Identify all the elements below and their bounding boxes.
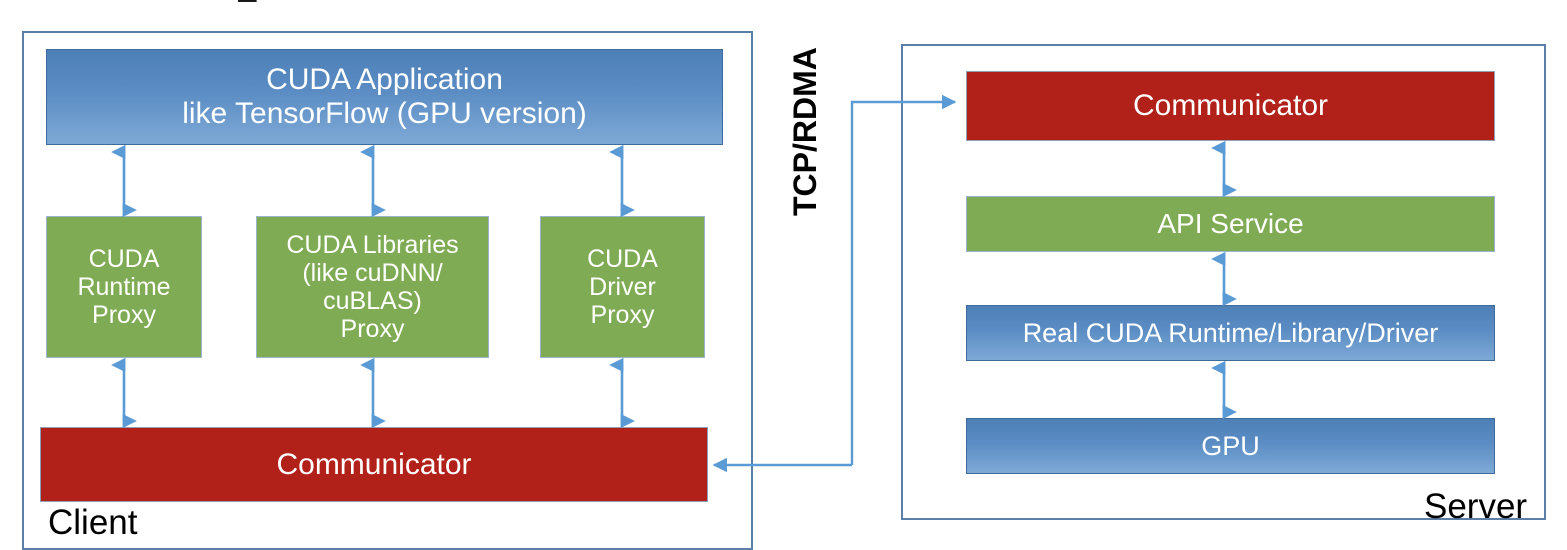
tcp-rdma-link-label: TCP/RDMA xyxy=(787,16,824,216)
diagram-canvas: I CUDA Application like TensorFlow (GPU … xyxy=(0,0,1567,550)
box-cuda-runtime-proxy[interactable]: CUDA Runtime Proxy xyxy=(46,216,202,358)
box-cuda-libraries-proxy[interactable]: CUDA Libraries (like cuDNN/ cuBLAS) Prox… xyxy=(256,216,489,358)
box-gpu[interactable]: GPU xyxy=(966,418,1495,474)
box-real-cuda-runtime-library-driver[interactable]: Real CUDA Runtime/Library/Driver xyxy=(966,305,1495,361)
box-cuda-driver-proxy[interactable]: CUDA Driver Proxy xyxy=(540,216,705,358)
clipped-title-text: I xyxy=(236,0,259,12)
server-panel-label: Server xyxy=(1424,489,1527,524)
box-cuda-application[interactable]: CUDA Application like TensorFlow (GPU ve… xyxy=(46,49,723,145)
box-server-communicator[interactable]: Communicator xyxy=(966,71,1495,141)
box-api-service[interactable]: API Service xyxy=(966,196,1495,252)
box-client-communicator[interactable]: Communicator xyxy=(40,427,708,502)
client-panel-label: Client xyxy=(48,505,137,540)
